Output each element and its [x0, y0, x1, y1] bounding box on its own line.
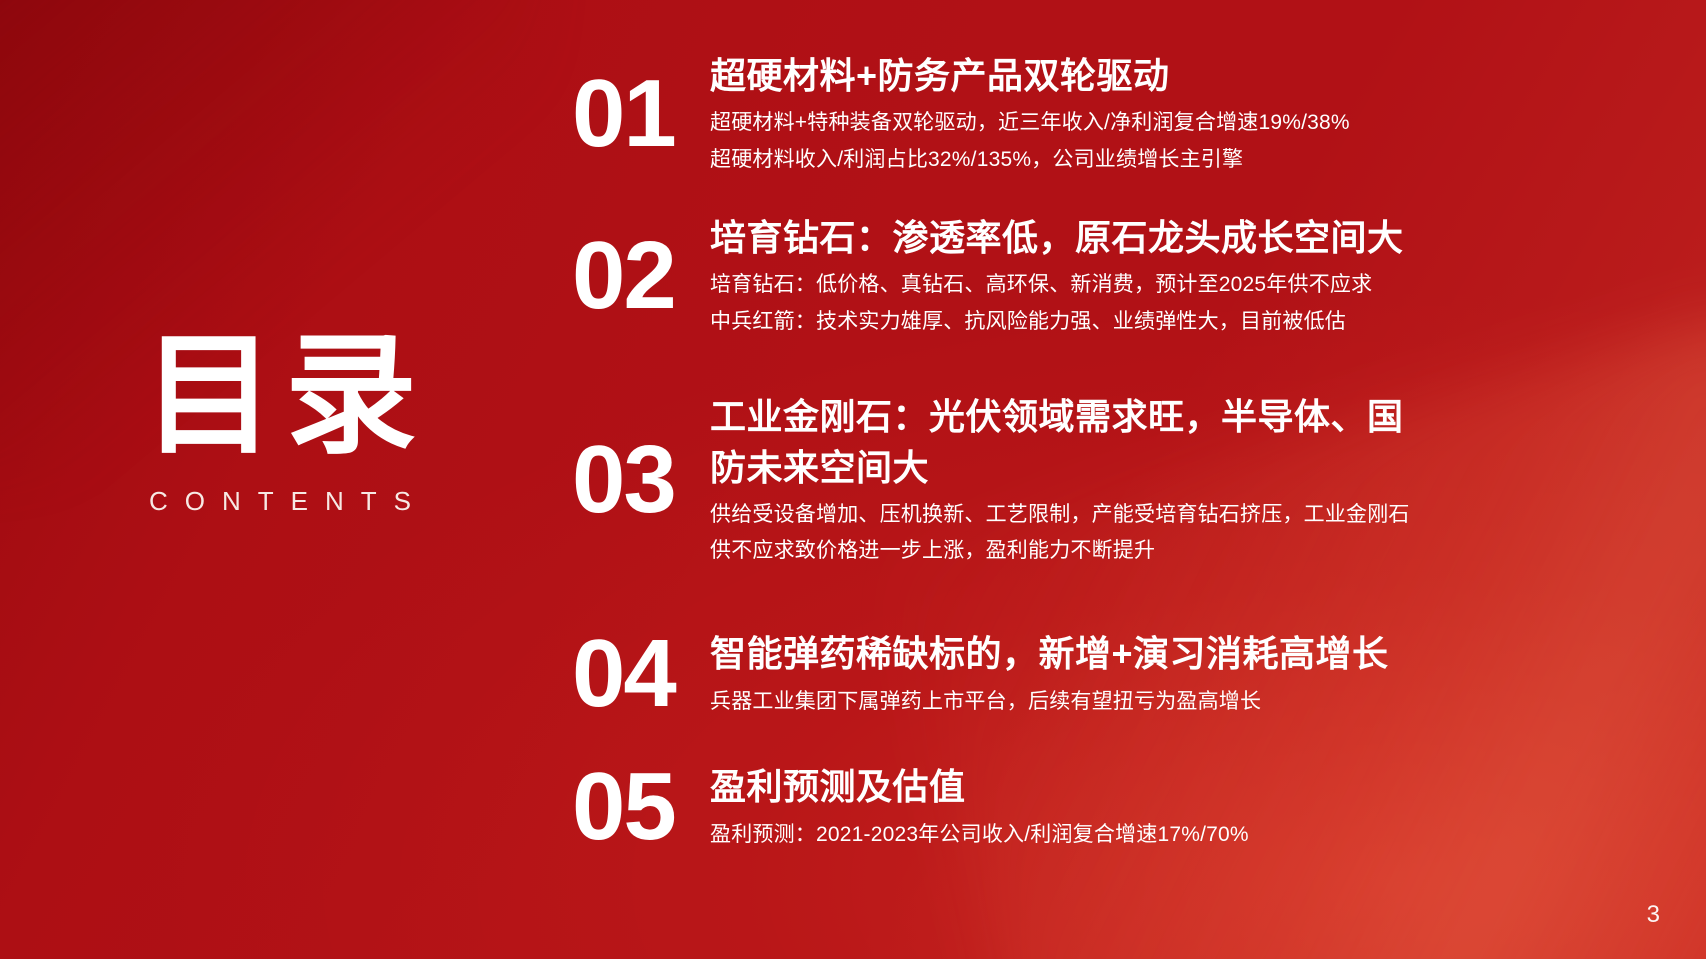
item-text-04: 智能弹药稀缺标的，新增+演习消耗高增长 兵器工业集团下属弹药上市平台，后续有望扭…	[710, 628, 1706, 719]
item-text-01: 超硬材料+防务产品双轮驱动 超硬材料+特种装备双轮驱动，近三年收入/净利润复合增…	[710, 50, 1706, 177]
item-body-02: 培育钻石：低价格、真钻石、高环保、新消费，预计至2025年供不应求 中兵红箭：技…	[710, 267, 1666, 339]
contents-item-02[interactable]: 02 培育钻石：渗透率低，原石龙头成长空间大 培育钻石：低价格、真钻石、高环保、…	[560, 206, 1706, 346]
contents-title-block: 目录 CONTENTS	[0, 330, 560, 517]
item-title-02: 培育钻石：渗透率低，原石龙头成长空间大	[710, 212, 1666, 263]
contents-title-cn: 目录	[0, 330, 560, 462]
contents-item-04[interactable]: 04 智能弹药稀缺标的，新增+演习消耗高增长 兵器工业集团下属弹药上市平台，后续…	[560, 614, 1706, 734]
contents-title-en: CONTENTS	[0, 486, 560, 517]
item-text-03: 工业金刚石：光伏领域需求旺，半导体、国 防未来空间大 供给受设备增加、压机换新、…	[710, 391, 1706, 569]
contents-list: 01 超硬材料+防务产品双轮驱动 超硬材料+特种装备双轮驱动，近三年收入/净利润…	[560, 0, 1706, 959]
item-text-02: 培育钻石：渗透率低，原石龙头成长空间大 培育钻石：低价格、真钻石、高环保、新消费…	[710, 212, 1706, 339]
item-body-04: 兵器工业集团下属弹药上市平台，后续有望扭亏为盈高增长	[710, 684, 1666, 720]
item-number-04: 04	[560, 626, 710, 722]
slide-root: 目录 CONTENTS 01 超硬材料+防务产品双轮驱动 超硬材料+特种装备双轮…	[0, 0, 1706, 959]
item-title-04: 智能弹药稀缺标的，新增+演习消耗高增长	[710, 628, 1666, 679]
item-number-05: 05	[560, 759, 710, 855]
item-number-01: 01	[560, 66, 710, 162]
item-body-03: 供给受设备增加、压机换新、工艺限制，产能受培育钻石挤压，工业金刚石 供不应求致价…	[710, 497, 1666, 569]
item-text-05: 盈利预测及估值 盈利预测：2021-2023年公司收入/利润复合增速17%/70…	[710, 761, 1706, 852]
item-title-05: 盈利预测及估值	[710, 761, 1666, 812]
item-number-03: 03	[560, 432, 710, 528]
page-number: 3	[1647, 901, 1660, 929]
contents-item-01[interactable]: 01 超硬材料+防务产品双轮驱动 超硬材料+特种装备双轮驱动，近三年收入/净利润…	[560, 34, 1706, 194]
contents-item-05[interactable]: 05 盈利预测及估值 盈利预测：2021-2023年公司收入/利润复合增速17%…	[560, 742, 1706, 872]
item-body-05: 盈利预测：2021-2023年公司收入/利润复合增速17%/70%	[710, 817, 1666, 853]
item-number-02: 02	[560, 228, 710, 324]
item-title-03: 工业金刚石：光伏领域需求旺，半导体、国 防未来空间大	[710, 391, 1666, 493]
item-body-01: 超硬材料+特种装备双轮驱动，近三年收入/净利润复合增速19%/38% 超硬材料收…	[710, 105, 1666, 177]
item-title-01: 超硬材料+防务产品双轮驱动	[710, 50, 1666, 101]
contents-item-03[interactable]: 03 工业金刚石：光伏领域需求旺，半导体、国 防未来空间大 供给受设备增加、压机…	[560, 370, 1706, 590]
